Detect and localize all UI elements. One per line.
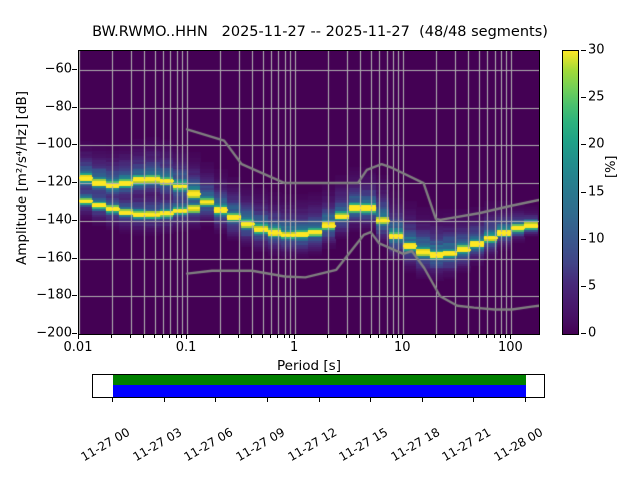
colorbar-tick-label: 20 [588, 137, 605, 152]
y-tick-mark [72, 144, 77, 145]
y-tick-label: −180 [20, 288, 72, 303]
y-tick-mark [72, 258, 77, 259]
x-tick-mark-major [186, 335, 187, 339]
x-tick-mark-minor [289, 335, 290, 338]
x-tick-mark-minor [238, 335, 239, 338]
ppsd-axes[interactable] [78, 50, 540, 335]
colorbar-tick-mark [581, 144, 586, 145]
time-tick-mark [370, 398, 371, 402]
colorbar-tick-mark [581, 239, 586, 240]
y-axis-ticklabels: −60−80−100−120−140−160−180−200 [14, 50, 72, 335]
x-tick-label: 10 [394, 340, 411, 355]
x-tick-mark-minor [478, 335, 479, 338]
x-tick-label: 1 [290, 340, 298, 355]
y-tick-label: −160 [20, 250, 72, 265]
colorbar-tick-label: 10 [588, 231, 605, 246]
x-tick-mark-minor [176, 335, 177, 338]
x-tick-mark-minor [270, 335, 271, 338]
x-tick-mark-minor [111, 335, 112, 338]
x-tick-mark-minor [130, 335, 131, 338]
x-tick-mark-major [294, 335, 295, 339]
colorbar-label: [%] [604, 156, 619, 179]
x-tick-mark-major [78, 335, 79, 339]
y-tick-label: −60 [20, 61, 72, 76]
time-tick-label: 11-27 15 [337, 425, 391, 464]
x-tick-mark-minor [359, 335, 360, 338]
time-tick-mark [112, 398, 113, 402]
y-tick-label: −140 [20, 212, 72, 227]
x-tick-mark-minor [370, 335, 371, 338]
time-tick-mark [525, 398, 526, 402]
x-tick-mark-minor [386, 335, 387, 338]
x-tick-label: 100 [498, 340, 523, 355]
colorbar-tick-mark [581, 50, 586, 51]
colorbar-tick-mark [581, 97, 586, 98]
x-axis-ticklabels: 0.010.1110100 [78, 337, 540, 359]
data-coverage-bar[interactable] [92, 374, 545, 398]
x-tick-mark-minor [262, 335, 263, 338]
y-tick-mark [72, 220, 77, 221]
time-tick-mark [319, 398, 320, 402]
colorbar [562, 50, 579, 335]
colorbar-tick-mark [581, 192, 586, 193]
x-tick-mark-minor [397, 335, 398, 338]
time-tick-label: 11-27 06 [182, 425, 236, 464]
y-tick-mark [72, 333, 77, 334]
time-tick-label: 11-27 03 [130, 425, 184, 464]
x-tick-mark-minor [435, 335, 436, 338]
colorbar-tick-mark [581, 286, 586, 287]
x-tick-mark-major [510, 335, 511, 339]
colorbar-tick-mark [581, 333, 586, 334]
x-tick-mark-minor [486, 335, 487, 338]
colorbar-tick-label: 5 [588, 278, 596, 293]
x-tick-mark-minor [277, 335, 278, 338]
x-tick-mark-major [402, 335, 403, 339]
x-tick-mark-minor [327, 335, 328, 338]
coverage-blue-band [113, 385, 526, 397]
colorbar-tick-label: 15 [588, 184, 605, 199]
colorbar-tick-label: 25 [588, 90, 605, 105]
coverage-green-band [113, 375, 526, 385]
x-tick-mark-minor [467, 335, 468, 338]
x-tick-mark-minor [454, 335, 455, 338]
y-tick-mark [72, 182, 77, 183]
time-tick-mark [473, 398, 474, 402]
x-tick-mark-minor [494, 335, 495, 338]
noise-model-overlay [79, 51, 539, 334]
x-tick-mark-minor [219, 335, 220, 338]
y-tick-mark [72, 107, 77, 108]
time-tick-label: 11-27 12 [285, 425, 339, 464]
x-tick-label: 0.01 [64, 340, 93, 355]
x-tick-mark-minor [154, 335, 155, 338]
x-tick-mark-minor [169, 335, 170, 338]
coverage-time-ticklabels: 11-27 0011-27 0311-27 0611-27 0911-27 12… [0, 398, 640, 478]
time-tick-label: 11-27 00 [78, 425, 132, 464]
time-tick-label: 11-27 18 [388, 425, 442, 464]
time-tick-label: 11-27 21 [440, 425, 494, 464]
time-tick-label: 11-28 00 [492, 425, 546, 464]
y-tick-label: −100 [20, 137, 72, 152]
y-tick-mark [72, 69, 77, 70]
colorbar-tick-label: 30 [588, 43, 605, 58]
x-tick-mark-minor [378, 335, 379, 338]
x-tick-mark-minor [505, 335, 506, 338]
x-tick-label: 0.1 [176, 340, 197, 355]
x-tick-mark-minor [162, 335, 163, 338]
time-tick-mark [267, 398, 268, 402]
colorbar-ticklabels: 051015202530 [581, 50, 621, 335]
y-tick-mark [72, 295, 77, 296]
x-axis-label: Period [s] [78, 358, 540, 374]
figure-canvas: BW.RWMO..HHN 2025-11-27 -- 2025-11-27 (4… [0, 0, 640, 480]
time-tick-mark [164, 398, 165, 402]
plot-title: BW.RWMO..HHN 2025-11-27 -- 2025-11-27 (4… [0, 24, 640, 40]
colorbar-tick-label: 0 [588, 326, 596, 341]
time-tick-label: 11-27 09 [233, 425, 287, 464]
time-tick-mark [422, 398, 423, 402]
time-tick-mark [215, 398, 216, 402]
x-tick-mark-minor [392, 335, 393, 338]
x-tick-mark-minor [500, 335, 501, 338]
x-tick-mark-minor [181, 335, 182, 338]
y-tick-label: −80 [20, 99, 72, 114]
x-tick-mark-minor [251, 335, 252, 338]
y-tick-label: −120 [20, 175, 72, 190]
y-tick-label: −200 [20, 326, 72, 341]
x-tick-mark-minor [346, 335, 347, 338]
x-tick-mark-minor [143, 335, 144, 338]
x-tick-mark-minor [284, 335, 285, 338]
